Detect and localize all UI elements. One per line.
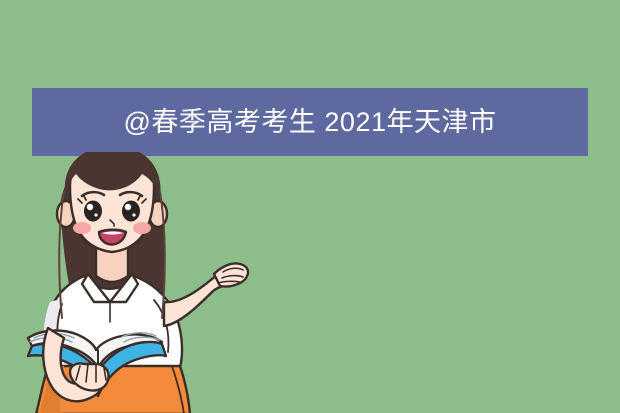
banner-title-text: @春季高考考生 2021年天津市 <box>124 109 497 136</box>
student-illustration <box>14 152 274 413</box>
screenshot-canvas: @春季高考考生 2021年天津市 <box>0 0 620 413</box>
title-banner: @春季高考考生 2021年天津市 <box>32 88 588 156</box>
